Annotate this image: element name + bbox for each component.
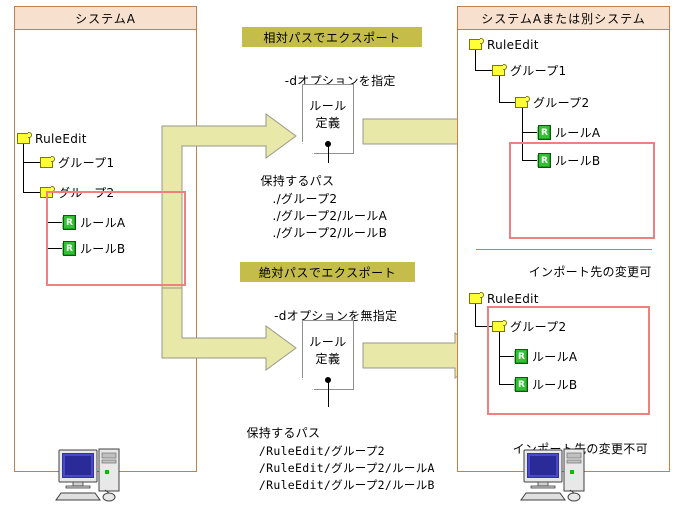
tree-node-label: RuleEdit [487, 293, 539, 305]
tree-connector-trunk [475, 304, 476, 326]
tree-node-label: グループ1 [58, 157, 114, 169]
relative-path-item: ./グループ2/ルールB [256, 206, 387, 260]
source-system-header-label: システムA [75, 10, 136, 27]
folder-icon [17, 132, 32, 145]
tree-connector-branch [522, 132, 537, 133]
target-system-header: システムAまたは別システム [458, 7, 669, 30]
tree-node-ruleedit[interactable]: RuleEdit [469, 36, 539, 53]
tree-connector-branch [499, 102, 515, 103]
tree-node-ruleedit[interactable]: RuleEdit [469, 290, 539, 307]
target-bottom-highlight-box [487, 306, 650, 415]
relative-export-chip-label: 相対パスでエクスポート [263, 29, 400, 46]
tree-connector-trunk [23, 144, 24, 192]
tree-node-group1[interactable]: グループ1 [492, 62, 566, 79]
tree-node-label: RuleEdit [487, 39, 539, 51]
tree-node-label: グループ2 [533, 97, 589, 109]
tree-node-ruleedit[interactable]: RuleEdit [17, 130, 87, 147]
tree-node-rulea[interactable]: R ルールA [537, 124, 600, 141]
folder-icon [40, 156, 55, 169]
tree-connector-trunk [475, 50, 476, 70]
source-highlight-box [46, 191, 186, 286]
diagram-canvas: システムA RuleEdit グループ1 グループ2 R ルールA [0, 0, 684, 508]
target-computer-icon [520, 440, 612, 506]
tree-connector-branch [475, 70, 492, 71]
tree-connector-branch [23, 162, 40, 163]
folder-icon [469, 292, 484, 305]
target-system-header-label: システムAまたは別システム [481, 10, 646, 27]
tree-node-label: RuleEdit [35, 133, 87, 145]
target-top-highlight-box [509, 142, 655, 239]
tree-node-label: ルールA [555, 127, 600, 139]
document-label: ルール 定義 [302, 98, 354, 132]
absolute-export-chip: 絶対パスでエクスポート [240, 262, 415, 282]
document-label: ルール 定義 [302, 334, 354, 368]
source-computer-icon [55, 440, 147, 506]
tree-node-label: グループ1 [510, 65, 566, 77]
absolute-export-chip-label: 絶対パスでエクスポート [259, 264, 396, 281]
leader-line [328, 381, 329, 407]
rule-icon: R [537, 125, 552, 140]
source-system-header: システムA [15, 7, 196, 30]
tree-connector-trunk [499, 76, 500, 102]
folder-icon [469, 38, 484, 51]
tree-node-group2[interactable]: グループ2 [515, 94, 589, 111]
tree-node-group1[interactable]: グループ1 [40, 154, 114, 171]
absolute-path-item: /RuleEdit/グループ2/ルールB [230, 458, 435, 512]
tree-connector-branch [23, 192, 40, 193]
relative-export-chip: 相対パスでエクスポート [242, 27, 422, 47]
